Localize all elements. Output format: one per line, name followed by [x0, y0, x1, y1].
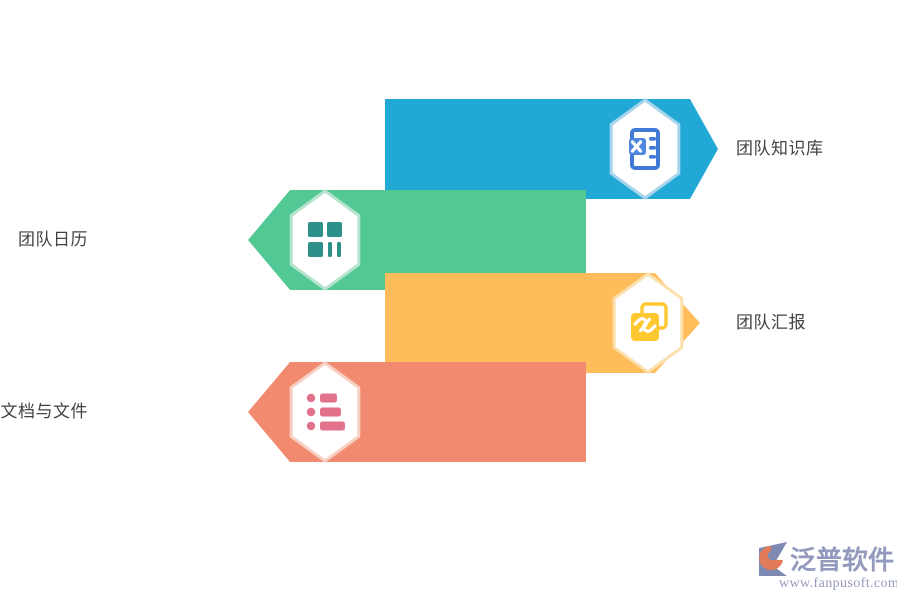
row-label: 文档与文件	[1, 402, 89, 422]
watermark-svg: 泛普软件 www.fanpusoft.com	[757, 536, 897, 592]
infographic-canvas: 团队知识库 团队日历	[0, 0, 900, 600]
row-shape	[0, 362, 900, 462]
watermark-logo: 泛普软件 www.fanpusoft.com	[757, 536, 897, 592]
row-label: 团队知识库	[736, 139, 824, 159]
watermark-url: www.fanpusoft.com	[779, 576, 897, 591]
fanpu-mark-icon	[759, 542, 787, 576]
flow-row-team-report[interactable]: 团队汇报	[0, 273, 900, 373]
row-label: 团队汇报	[736, 313, 806, 333]
flow-row-team-knowledge-base[interactable]: 团队知识库	[0, 99, 900, 199]
row-label: 团队日历	[18, 230, 88, 250]
watermark-brand: 泛普软件	[790, 545, 894, 575]
flow-row-documents-and-files[interactable]: 文档与文件	[0, 362, 900, 462]
